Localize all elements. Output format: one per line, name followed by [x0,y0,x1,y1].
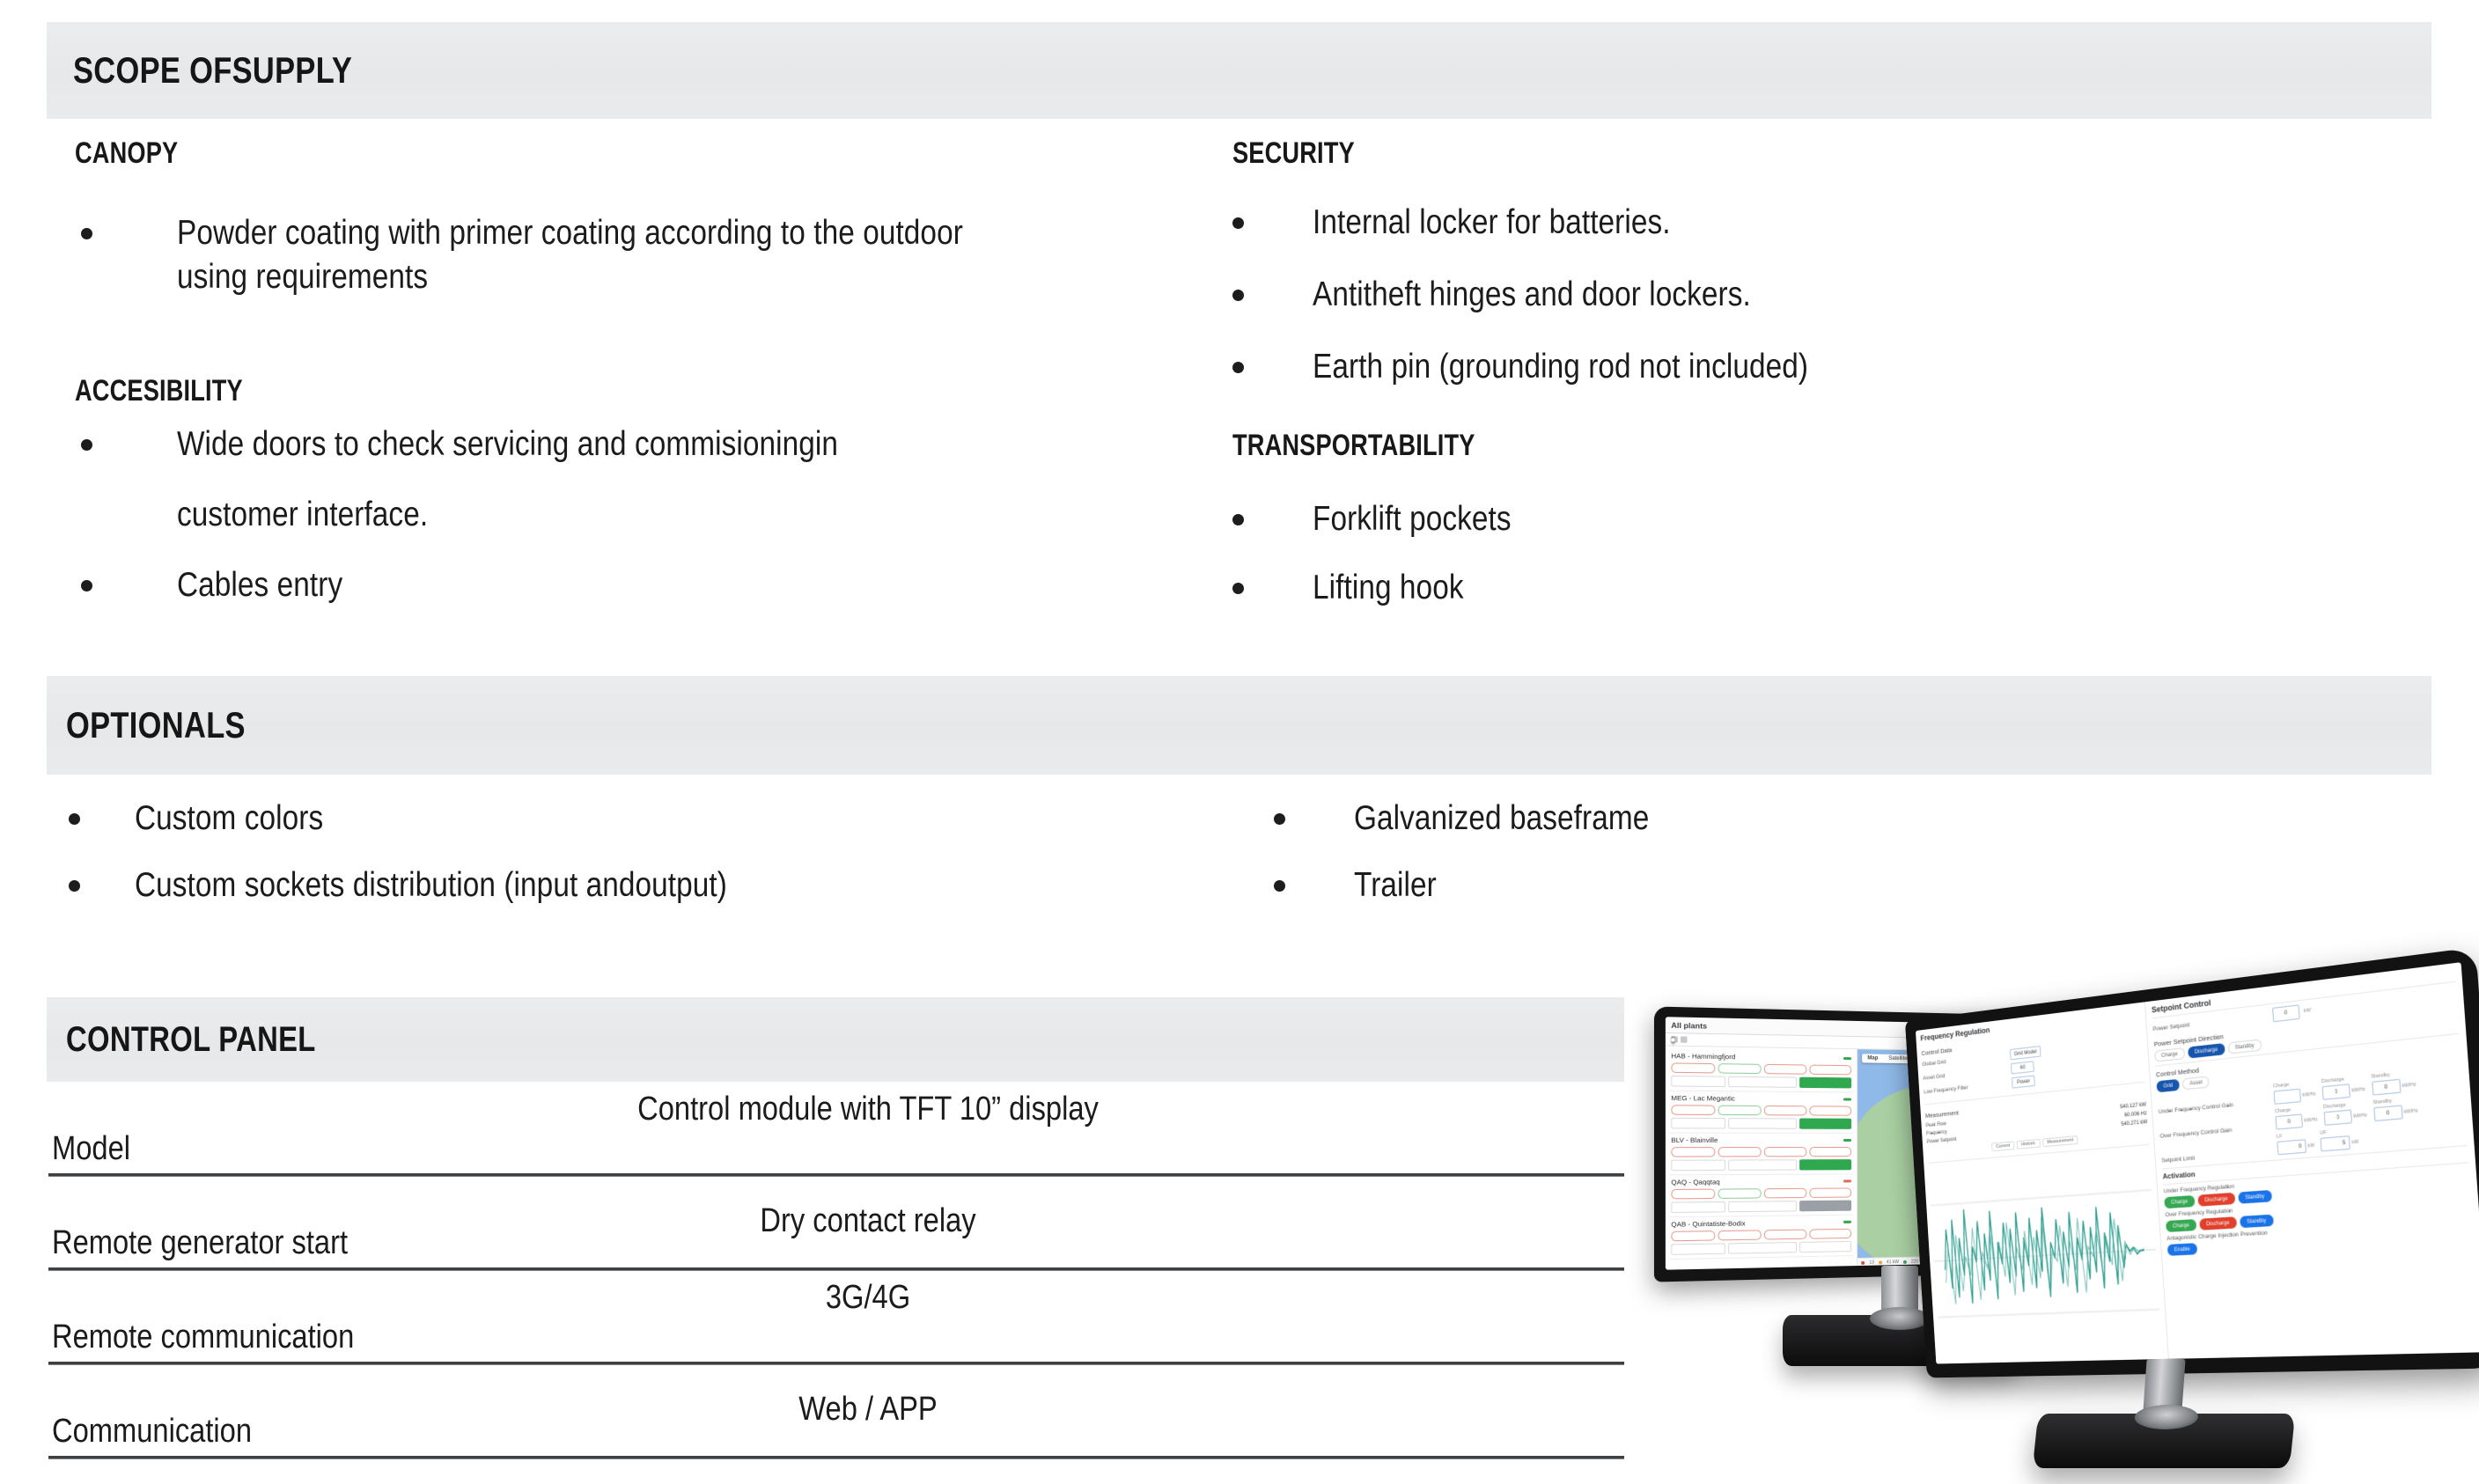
chip-soh [1718,1106,1762,1116]
bullet-dot-icon [1274,880,1285,892]
plant-button-disabled[interactable] [1799,1201,1851,1212]
subheading-canopy: CANOPY [75,136,178,171]
bullet-optionals-right-2: Trailer [1274,863,2330,907]
limit-input[interactable]: 5 [2321,1135,2350,1151]
bullet-accesibility-1: Wide doors to check servicing and commis… [81,422,1199,467]
metric-value: 540.127 kW [2120,1102,2146,1110]
plant-button-primary[interactable] [1799,1159,1851,1170]
gain-unit: kW/Hz [2353,1113,2367,1120]
setpoint-control-panel: Setpoint Control Power Setpoint 0 kW Pow… [2145,962,2479,1358]
gain-cell-standby: Standby 0 kW/Hz [2372,1096,2418,1121]
activation-charge-button[interactable]: Charge [2166,1219,2196,1232]
bullet-dot-icon [1232,583,1244,594]
monitor-screen: Frequency Regulation Control Data Global… [1916,962,2479,1363]
gain-cell-discharge: Discharge 0 kW/Hz [2321,1075,2366,1100]
list-item[interactable]: QAQ - Qaqqtaq [1669,1174,1853,1217]
bullet-optionals-right-1: Galvanized baseframe [1274,797,2330,841]
chip-soc [1671,1147,1715,1157]
plant-button[interactable] [1728,1201,1797,1212]
plant-name-row: MEG - Lac Megantic [1671,1094,1851,1104]
gain-cell-charge: Charge kW/Hz [2273,1080,2316,1105]
gain-unit: kW/Hz [2402,1082,2416,1089]
gain-unit: kW/Hz [2351,1086,2365,1093]
bullet-text: Powder coating with primer coating accor… [177,211,963,299]
section-band-optionals: OPTIONALS [47,676,2431,775]
frequency-chart-svg [1929,1150,2163,1355]
status-badge [1843,1098,1851,1100]
subheading-accesibility: ACCESIBILITY [75,374,243,408]
plant-buttons [1671,1076,1851,1089]
gain-input[interactable]: 0 [2373,1105,2402,1121]
plant-name: QAB - Quintatiste-Bodix [1671,1219,1745,1228]
activation-charge-button[interactable]: Charge [2164,1195,2195,1209]
section-band-control-panel: CONTROL PANEL [47,997,1624,1082]
control-method-asset[interactable]: Asset [2182,1076,2210,1090]
plant-chips [1671,1229,1851,1241]
table-cell-value: Control module with TFT 10” display [637,1091,1099,1128]
bullet-text: Cables entry [177,563,342,607]
subheading-transportability: TRANSPORTABILITY [1232,429,1475,463]
bullet-dot-icon [1232,514,1244,525]
bullet-dot-icon [1232,217,1244,229]
activation-standby-button[interactable]: Standby [2238,1190,2272,1204]
tab-current[interactable]: Current [1991,1141,2015,1151]
tab-measurement[interactable]: Measurement [2042,1135,2078,1147]
status-value: 13 [1869,1260,1874,1266]
plant-name-row: QAB - Quintatiste-Bodix [1671,1218,1851,1229]
bullet-dot-icon [1232,362,1244,373]
bullet-text: Forklift pockets [1313,497,1512,541]
table-cell-value: Dry contact relay [760,1202,975,1240]
status-dot-red [1861,1261,1865,1265]
plant-button[interactable] [1671,1160,1725,1172]
plant-button[interactable] [1728,1076,1797,1088]
table-cell-value: Web / APP [798,1391,937,1429]
bullet-accesibility-3: Cables entry [81,563,1199,607]
bullet-text: Custom colors [135,797,323,841]
table-cell-label: Remote generator start [52,1224,348,1262]
plant-button-primary[interactable] [1799,1077,1851,1089]
gain-unit: kW/Hz [2302,1091,2316,1098]
activation-discharge-button[interactable]: Discharge [2197,1193,2235,1207]
table-row: Remote generator start Dry contact relay [48,1176,1624,1270]
bullet-transportability-1: Forklift pockets [1232,497,2289,541]
map-pin-icon[interactable] [1671,1036,1674,1043]
plant-button[interactable] [1671,1243,1725,1255]
plant-buttons [1671,1159,1851,1171]
bullet-dot-icon [81,580,92,591]
gain-input[interactable]: 0 [2321,1084,2350,1100]
table-cell-label: Communication [52,1413,252,1451]
list-item[interactable]: MEG - Lac Megantic [1669,1091,1853,1134]
chip-kwh [1810,1106,1852,1115]
chip-kw [1764,1064,1807,1075]
limit-input[interactable]: 0 [2277,1139,2307,1155]
app-title: All plants [1671,1020,1707,1030]
bullet-text: Galvanized baseframe [1354,797,1649,841]
plant-button[interactable] [1728,1118,1797,1129]
chip-soc [1671,1189,1715,1200]
setpoint-limit-cell-lf: LF 0 kW [2277,1131,2315,1155]
bullet-text: Antitheft hinges and door lockers. [1313,273,1751,317]
status-badge [1843,1179,1851,1182]
plant-button-primary[interactable] [1799,1118,1851,1128]
chip-soc [1671,1105,1715,1115]
plant-button[interactable] [1671,1118,1725,1129]
control-panel-table: Model Control module with TFT 10” displa… [48,1082,1624,1458]
plant-buttons [1671,1241,1851,1255]
power-setpoint-input[interactable]: 0 [2272,1004,2300,1022]
chip-soc [1671,1062,1715,1073]
chip-soc [1671,1231,1715,1241]
chip-kwh [1810,1065,1852,1076]
chip-kwh [1810,1147,1852,1157]
bullet-security-2: Antitheft hinges and door lockers. [1232,273,2289,317]
table-row: Model Control module with TFT 10” displa… [48,1082,1624,1176]
bullet-dot-icon [81,228,92,239]
plant-button[interactable] [1728,1242,1797,1254]
chip-kw [1764,1230,1807,1240]
status-badge [1843,1057,1851,1060]
chip-kw [1764,1188,1807,1199]
plant-chips [1671,1187,1851,1199]
power-setpoint-unit: kW [2304,1008,2312,1014]
bullet-text: Wide doors to check servicing and commis… [177,422,838,467]
bullet-dot-icon [81,439,92,451]
chip-kw [1764,1147,1807,1157]
limit-unit: kW [2307,1142,2314,1149]
field-value[interactable]: Power [2012,1075,2035,1088]
section-title-optionals: OPTIONALS [66,704,246,746]
section-band-scope-of-supply: SCOPE OFSUPPLY [47,22,2431,119]
monitor-base [2033,1414,2296,1468]
chip-kwh [1810,1229,1852,1239]
chip-kw [1764,1106,1807,1116]
frequency-regulation-app: Frequency Regulation Control Data Global… [1916,962,2479,1363]
direction-option-discharge[interactable]: Discharge [2188,1043,2225,1059]
metric-label: Peak Flow [1926,1121,1946,1128]
plant-chips [1671,1105,1851,1115]
section-title-scope-of-supply: SCOPE OFSUPPLY [73,49,352,92]
direction-option-charge[interactable]: Charge [2154,1047,2185,1062]
bullet-text: Earth pin (grounding rod not included) [1313,345,1808,389]
bullet-canopy-1: Powder coating with primer coating accor… [81,211,1199,299]
gain-input[interactable]: 0 [2276,1113,2304,1129]
chip-soh [1718,1063,1762,1074]
list-item[interactable]: HAB - Hammingfjord [1669,1049,1853,1093]
plant-list[interactable]: HAB - Hammingfjord [1666,1047,1857,1270]
metric-label: Power Setpoint [1927,1137,1957,1145]
activation-discharge-button[interactable]: Discharge [2199,1216,2237,1231]
gain-cell-standby: Standby 0 kW/Hz [2371,1070,2416,1096]
bullet-transportability-2: Lifting hook [1232,566,2289,610]
list-item[interactable]: BLV - Blainville [1669,1134,1853,1176]
plant-button[interactable] [1671,1201,1725,1213]
plant-name-row: QAQ - Qaqqtaq [1671,1177,1851,1186]
bullet-security-1: Internal locker for batteries. [1232,201,2289,245]
plant-name: QAQ - Qaqqtaq [1671,1178,1719,1186]
activation-enable-button[interactable]: Enable [2167,1243,2197,1256]
metric-value: 60.006 Hz [2124,1111,2147,1118]
bullet-dot-icon [1232,290,1244,301]
bullet-accesibility-2: customer interface. [81,493,1199,537]
plant-buttons [1671,1118,1851,1129]
metric-label: Frequency [1926,1130,1947,1137]
field-label: Low Frequency Filter [1924,1081,2008,1096]
bullet-optionals-left-2: Custom sockets distribution (input andou… [69,863,1169,907]
chip-soh [1718,1230,1762,1240]
list-icon[interactable] [1681,1036,1687,1042]
gain-unit: kW/Hz [2403,1108,2417,1115]
chip-soh [1718,1147,1762,1157]
bullet-text: Custom sockets distribution (input andou… [135,863,727,907]
gain-input[interactable]: 0 [2323,1110,2351,1126]
table-row: Remote communication 3G/4G [48,1270,1624,1364]
monitors-illustration: All plants HAB - Hammingfjord [1655,986,2479,1484]
metric-value: 540.271 kW [2121,1120,2147,1128]
bullet-text: Lifting hook [1313,566,1464,610]
plant-buttons [1671,1201,1851,1214]
table-row: Communication Web / APP [48,1364,1624,1458]
plant-name-row: HAB - Hammingfjord [1671,1052,1851,1062]
bullet-text: Internal locker for batteries. [1313,201,1671,245]
bullet-security-3: Earth pin (grounding rod not included) [1232,345,2289,389]
bullet-text: Trailer [1354,863,1437,907]
setpoint-limit-cell-uf: UF 5 kW [2320,1128,2359,1151]
field-value[interactable]: Grid Model [2010,1046,2041,1060]
gain-cell-charge: Charge 0 kW/Hz [2275,1106,2318,1130]
direction-option-standby[interactable]: Standby [2227,1039,2262,1054]
slide-root: SCOPE OFSUPPLY CANOPY Powder coating wit… [0,0,2479,1484]
chip-kwh [1810,1187,1852,1198]
table-cell-label: Model [52,1130,130,1168]
bullet-dot-icon [69,813,80,825]
control-method-grid[interactable]: Grid [2156,1079,2180,1093]
subheading-security: SECURITY [1232,136,1355,171]
status-badge [1843,1139,1851,1142]
gain-unit: kW/Hz [2304,1117,2318,1124]
section-title-control-panel: CONTROL PANEL [66,1020,316,1060]
list-item[interactable]: QAB - Quintatiste-Bodix [1669,1216,1853,1260]
chip-soh [1718,1188,1762,1199]
bullet-optionals-left-1: Custom colors [69,797,1169,841]
plant-name: MEG - Lac Megantic [1671,1094,1734,1103]
bullet-dot-icon [69,880,80,892]
tab-historic[interactable]: Historic [2017,1139,2041,1150]
monitor-bezel: Frequency Regulation Control Data Global… [1905,947,2479,1377]
table-cell-value: 3G/4G [826,1279,910,1317]
plant-name: BLV - Blainville [1671,1136,1718,1144]
control-data-panel: Frequency Regulation Control Data Global… [1916,1002,2169,1363]
bullet-text: customer interface. [177,493,428,537]
limit-unit: kW [2352,1139,2359,1145]
activation-standby-button[interactable]: Standby [2240,1215,2274,1229]
plant-chips [1671,1062,1851,1075]
frequency-chart [1928,1144,2163,1360]
plant-button[interactable] [1671,1076,1725,1087]
table-cell-label: Remote communication [52,1319,354,1356]
plant-button[interactable] [1728,1159,1797,1171]
right-monitor: Frequency Regulation Control Data Global… [1880,986,2479,1484]
gain-input[interactable] [2274,1089,2301,1105]
plant-button[interactable] [1799,1241,1851,1253]
status-badge [1843,1221,1851,1223]
plant-chips [1671,1147,1851,1157]
gain-cell-discharge: Discharge 0 kW/Hz [2323,1101,2368,1126]
bullet-dot-icon [1274,813,1285,825]
plant-name: HAB - Hammingfjord [1671,1052,1735,1061]
field-value[interactable]: 60 [2011,1061,2034,1074]
gain-input[interactable]: 0 [2372,1079,2401,1096]
plant-name-row: BLV - Blainville [1671,1136,1851,1144]
